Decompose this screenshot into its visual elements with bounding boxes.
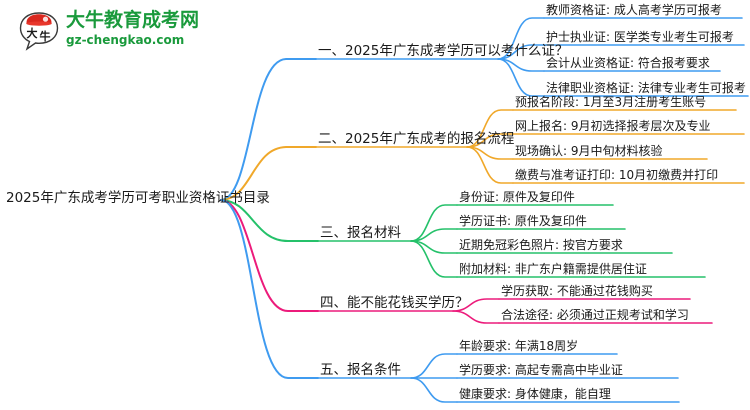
branch-label-2[interactable]: 二、2025年广东成考的报名流程 <box>318 132 514 148</box>
branch-label-4[interactable]: 四、能不能花钱买学历？ <box>320 296 469 312</box>
leaf-label-3-2[interactable]: 学历证书: 原件及复印件 <box>459 215 587 229</box>
leaf-label-1-2[interactable]: 护士执业证: 医学类专业考生可报考 <box>546 31 734 45</box>
leaf-label-1-3[interactable]: 会计从业资格证: 符合报考要求 <box>546 57 710 71</box>
da-niu-speech-bubble-logo-icon: 大 牛 <box>18 10 60 52</box>
leaf-label-4-2[interactable]: 合法途径: 必须通过正规考试和学习 <box>501 309 689 323</box>
leaf-label-2-1[interactable]: 预报名阶段: 1月至3月注册考生账号 <box>515 96 706 110</box>
logo-title: 大牛教育成考网 <box>66 8 199 32</box>
leaf-label-5-1[interactable]: 年龄要求: 年满18周岁 <box>459 340 578 354</box>
site-logo[interactable]: 大 牛 大牛教育成考网 gz-chengkao.com <box>18 6 248 56</box>
leaf-label-2-4[interactable]: 缴费与准考证打印: 10月初缴费并打印 <box>515 169 718 183</box>
connector-branch-1 <box>221 59 498 200</box>
svg-text:大: 大 <box>27 26 38 40</box>
logo-subtitle: gz-chengkao.com <box>66 32 199 48</box>
mindmap-canvas: 大 牛 大牛教育成考网 gz-chengkao.com <box>0 0 750 410</box>
leaf-label-2-3[interactable]: 现场确认: 9月中旬材料核验 <box>515 145 663 159</box>
leaf-label-1-1[interactable]: 教师资格证: 成人高考学历可报考 <box>546 4 722 18</box>
logo-text: 大牛教育成考网 gz-chengkao.com <box>66 8 199 48</box>
leaf-label-3-4[interactable]: 附加材料: 非广东户籍需提供居住证 <box>459 263 647 277</box>
branch-label-3[interactable]: 三、报名材料 <box>320 226 401 242</box>
branch-label-5[interactable]: 五、报名条件 <box>320 363 401 379</box>
leaf-label-4-1[interactable]: 学历获取: 不能通过花钱购买 <box>501 285 653 299</box>
leaf-label-5-2[interactable]: 学历要求: 高起专需高中毕业证 <box>459 364 623 378</box>
svg-text:牛: 牛 <box>40 29 51 43</box>
mindmap-root-label[interactable]: 2025年广东成考学历可考职业资格证书目录 <box>6 191 270 207</box>
branch-label-1[interactable]: 一、2025年广东成考学历可以考什么证？ <box>318 44 568 60</box>
leaf-label-3-3[interactable]: 近期免冠彩色照片: 按官方要求 <box>459 239 623 253</box>
leaf-label-1-4[interactable]: 法律职业资格证: 法律专业考生可报考 <box>546 82 746 96</box>
leaf-label-5-3[interactable]: 健康要求: 身体健康，能自理 <box>459 388 611 402</box>
leaf-label-3-1[interactable]: 身份证: 原件及复印件 <box>459 191 575 205</box>
leaf-label-2-2[interactable]: 网上报名: 9月初选择报考层次及专业 <box>515 120 711 134</box>
